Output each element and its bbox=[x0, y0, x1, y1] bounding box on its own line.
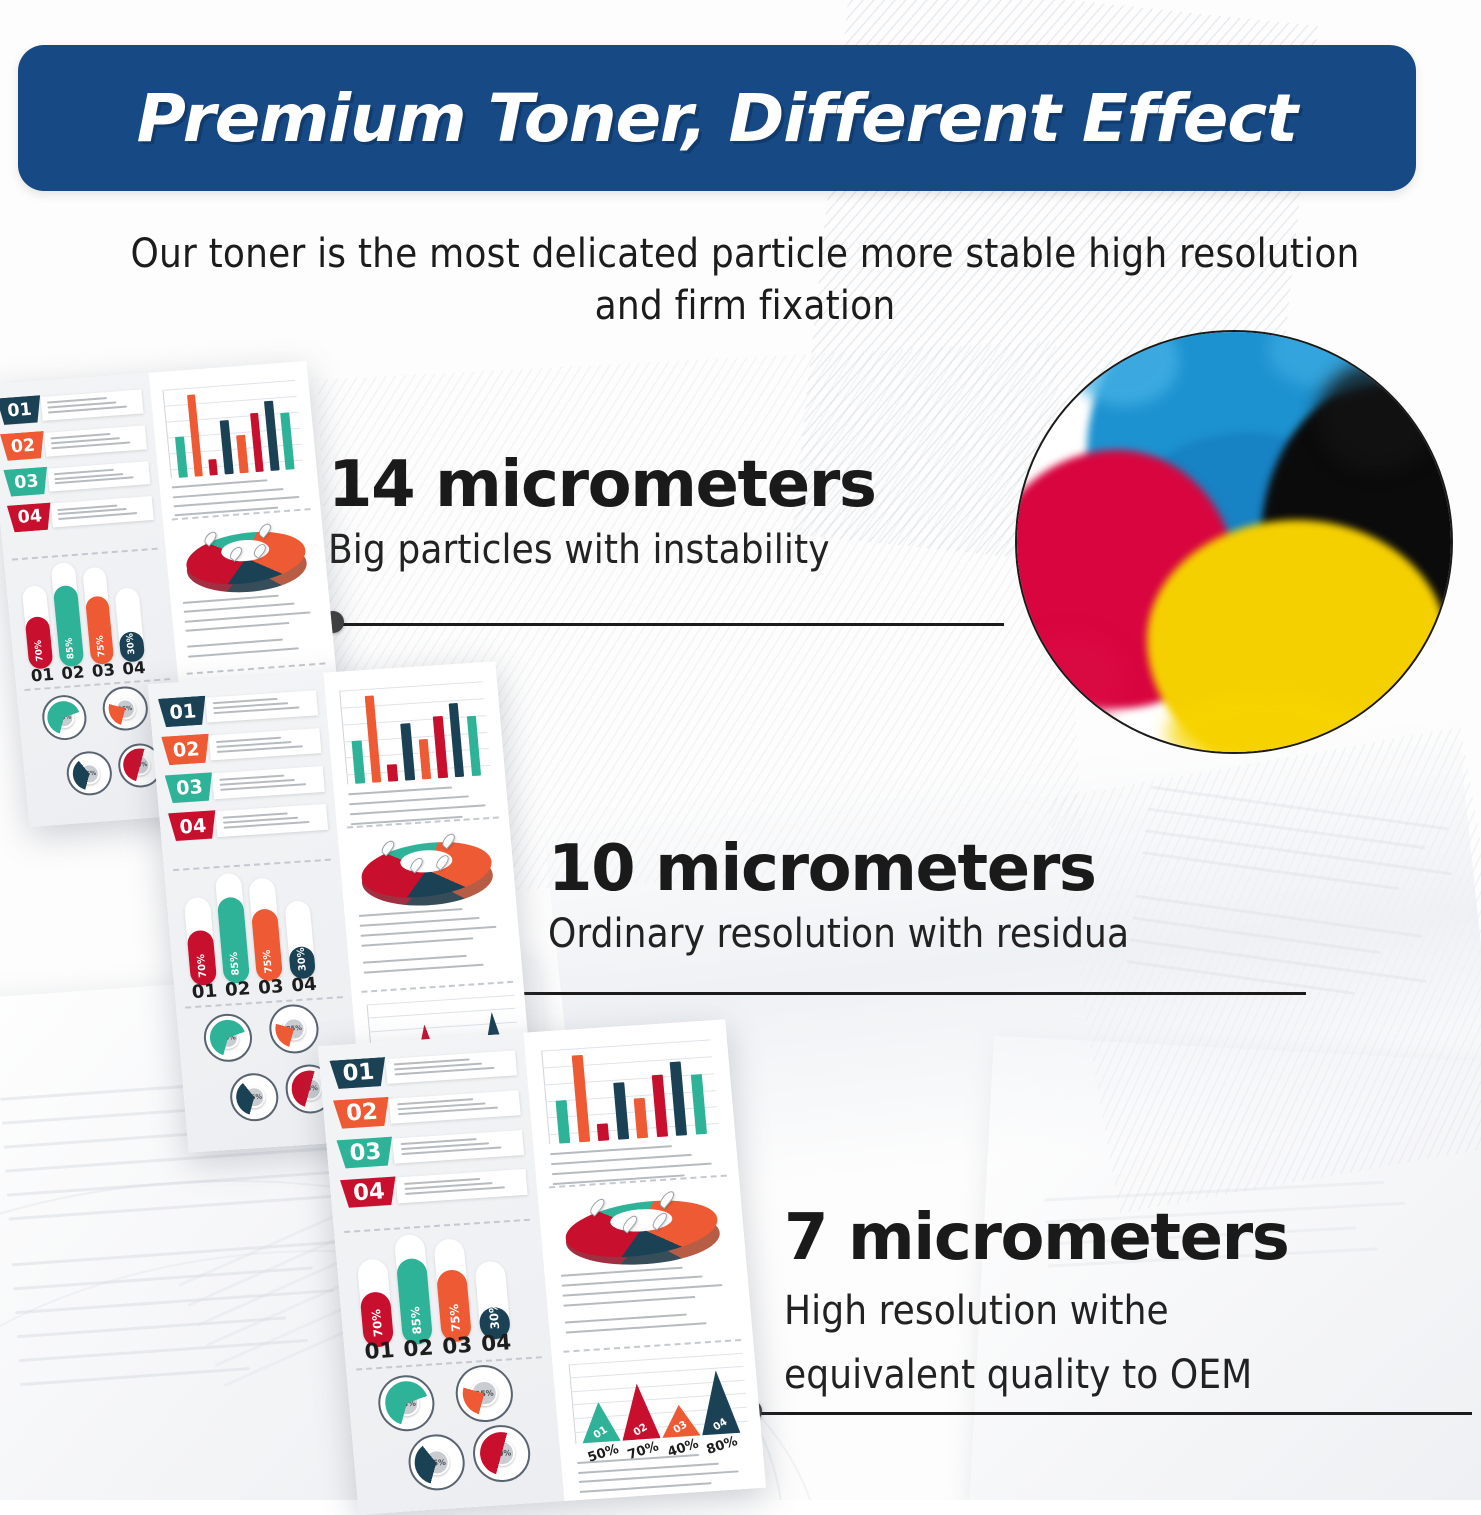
step-number-badge-02: 02 bbox=[333, 1097, 391, 1129]
bar-track-01: 70% bbox=[22, 585, 54, 669]
gauge-35%: 35% bbox=[406, 1432, 467, 1492]
step-number-badge-03: 03 bbox=[165, 772, 215, 804]
step-row: 04 bbox=[168, 803, 328, 842]
step-row: 02 bbox=[161, 726, 321, 765]
connector-line-14um bbox=[338, 623, 1004, 626]
sheet-left-column: 0102030470%0185%0275%0330%0465%25%35%50% bbox=[318, 1033, 565, 1515]
step-text-panel bbox=[44, 425, 148, 456]
mini-bar-3 bbox=[208, 459, 218, 476]
bar-category-label-01: 01 bbox=[30, 665, 55, 686]
step-row: 03 bbox=[165, 765, 325, 804]
filler-text-line bbox=[562, 1276, 703, 1287]
filler-text-line bbox=[188, 647, 299, 657]
filler-text-line bbox=[563, 1284, 723, 1297]
filler-text-line bbox=[550, 1145, 672, 1155]
filler-text-line bbox=[359, 917, 479, 927]
mini-bar-1 bbox=[352, 740, 365, 784]
filler-text-line bbox=[360, 926, 496, 937]
gauge-65%: 65% bbox=[201, 1012, 254, 1064]
bar-track-02: 85% bbox=[215, 872, 250, 983]
step-number-badge-02: 02 bbox=[0, 431, 46, 461]
bar-track-02: 85% bbox=[51, 562, 85, 667]
step-list: 01020304 bbox=[158, 688, 330, 858]
filler-text-line bbox=[552, 1162, 712, 1175]
step-text-panel bbox=[215, 804, 328, 837]
filler-text-line bbox=[362, 955, 466, 964]
step-text-panel bbox=[389, 1090, 521, 1124]
filler-text-line bbox=[361, 937, 473, 946]
gauge-ring-fill bbox=[274, 1009, 314, 1048]
divider-dashed-1 bbox=[12, 548, 157, 561]
step-number-badge-03: 03 bbox=[336, 1136, 394, 1168]
mini-column-chart bbox=[163, 380, 304, 478]
step-row: 04 bbox=[340, 1168, 528, 1209]
mini-bar-1 bbox=[175, 436, 188, 477]
chart-gridline bbox=[170, 459, 303, 470]
bar-track-04: 30% bbox=[284, 900, 316, 980]
mini-bar-7 bbox=[264, 401, 279, 471]
gauge-25%: 25% bbox=[101, 685, 150, 733]
page-title: Premium Toner, Different Effect bbox=[137, 80, 1297, 157]
chart-gridline bbox=[342, 715, 486, 726]
mini-bar-5 bbox=[418, 739, 431, 779]
chart-gridline bbox=[167, 427, 300, 438]
block-7-micrometers: 7 micrometers High resolution withe equi… bbox=[784, 1205, 1288, 1400]
bar-fill-01: 70% bbox=[25, 616, 53, 669]
gauge-35%: 35% bbox=[228, 1071, 281, 1123]
bar-value-label: 85% bbox=[65, 638, 77, 660]
filler-text-line bbox=[187, 639, 283, 648]
filler-text-line bbox=[349, 804, 485, 815]
bar-value-label: 70% bbox=[34, 640, 46, 662]
filler-text-line bbox=[358, 908, 462, 917]
divider-dashed-1 bbox=[344, 1218, 529, 1232]
bar-fill-02: 85% bbox=[396, 1258, 434, 1345]
bar-category-label-04: 04 bbox=[290, 974, 317, 997]
gauge-65%: 65% bbox=[40, 694, 89, 742]
connector-line-10um bbox=[500, 992, 1306, 995]
step-text-panel bbox=[385, 1050, 517, 1084]
gauge-ring-fill bbox=[383, 1380, 430, 1426]
chart-gridline bbox=[166, 411, 299, 422]
bar-fill-03: 75% bbox=[436, 1269, 472, 1343]
step-row: 03 bbox=[336, 1128, 524, 1169]
step-row: 01 bbox=[158, 688, 318, 727]
filler-text-line bbox=[580, 1482, 712, 1493]
rounded-bar-chart: 70%0185%0275%0330%04 bbox=[350, 1230, 537, 1363]
gauge-ring-fill bbox=[478, 1431, 525, 1477]
filler-text-line bbox=[564, 1296, 696, 1307]
triangle-chart-gridline bbox=[366, 994, 514, 1005]
bar-value-label: 85% bbox=[408, 1306, 424, 1335]
step-list: 01020304 bbox=[0, 388, 156, 549]
triangle-area-chart: 0150%0270%0340%0480% bbox=[569, 1353, 749, 1444]
bar-value-label: 85% bbox=[229, 951, 242, 975]
chart-y-axis bbox=[541, 1050, 550, 1144]
divider-dashed-1 bbox=[173, 858, 331, 870]
bar-track-02: 85% bbox=[393, 1234, 433, 1346]
step-row: 01 bbox=[0, 388, 144, 426]
bar-fill-02: 85% bbox=[217, 897, 250, 984]
block-14-micrometers: 14 micrometers Big particles with instab… bbox=[328, 452, 876, 575]
step-row: 03 bbox=[3, 459, 151, 497]
filler-text-line bbox=[363, 964, 483, 974]
bar-category-label-03: 03 bbox=[257, 976, 284, 999]
triangle-pct-80%: 80% bbox=[705, 1434, 740, 1458]
filler-text-line bbox=[349, 795, 469, 805]
mini-bar-7 bbox=[670, 1062, 687, 1136]
mini-bar-5 bbox=[237, 435, 249, 473]
bar-value-label: 75% bbox=[447, 1304, 463, 1333]
chart-gridline bbox=[343, 732, 487, 743]
bar-value-label: 30% bbox=[126, 633, 138, 655]
bar-value-label: 75% bbox=[262, 949, 275, 973]
bar-fill-01: 70% bbox=[186, 930, 216, 986]
headline-14um: 14 micrometers bbox=[328, 452, 876, 519]
bar-track-04: 30% bbox=[474, 1260, 511, 1340]
chart-y-axis bbox=[339, 691, 348, 785]
sheet-right-column: 0150%0270%0340%0480% bbox=[524, 1019, 767, 1501]
right-divider-2 bbox=[361, 980, 512, 992]
filler-text-line bbox=[183, 595, 279, 604]
chart-gridline bbox=[340, 698, 484, 709]
step-text-panel bbox=[396, 1169, 528, 1203]
gauge-ring-fill bbox=[46, 700, 82, 736]
chart-gridline bbox=[164, 396, 297, 407]
bar-fill-02: 85% bbox=[53, 585, 84, 667]
bar-value-label: 75% bbox=[95, 635, 107, 657]
filler-text-line bbox=[184, 603, 295, 613]
mini-bar-7 bbox=[449, 703, 465, 777]
step-number-badge-04: 04 bbox=[340, 1176, 398, 1208]
bar-category-label-03: 03 bbox=[441, 1333, 473, 1360]
bar-category-label-01: 01 bbox=[363, 1338, 395, 1365]
step-number-badge-01: 01 bbox=[0, 395, 43, 425]
connector-line-7um bbox=[756, 1412, 1472, 1415]
filler-text-line bbox=[565, 1314, 687, 1324]
filler-text-line bbox=[174, 496, 299, 507]
donut-3d-chart bbox=[183, 522, 309, 593]
bar-track-01: 70% bbox=[183, 897, 216, 986]
chart-gridline bbox=[549, 1123, 718, 1135]
filler-text-line bbox=[185, 611, 310, 622]
step-text-panel bbox=[51, 496, 155, 527]
step-number-badge-04: 04 bbox=[168, 810, 218, 842]
bar-track-01: 70% bbox=[356, 1258, 394, 1348]
triangle-chart-gridline bbox=[569, 1353, 742, 1366]
page-subtitle: Our toner is the most delicated particle… bbox=[110, 228, 1380, 332]
mini-column-chart bbox=[541, 1039, 718, 1144]
gauge-35%: 35% bbox=[65, 750, 114, 798]
filler-text-line bbox=[561, 1267, 683, 1277]
caption-10um: Ordinary resolution with residua bbox=[548, 909, 1129, 959]
chart-gridline bbox=[345, 748, 489, 759]
gauge-25%: 25% bbox=[454, 1363, 515, 1423]
right-divider-2 bbox=[187, 662, 326, 674]
infographic-sheet-7um: 0102030470%0185%0275%0330%0465%25%35%50%… bbox=[318, 1019, 766, 1514]
mini-bar-5 bbox=[634, 1098, 648, 1138]
gauge-ring-fill bbox=[107, 691, 143, 727]
step-number-badge-04: 04 bbox=[7, 502, 53, 532]
bar-track-04: 30% bbox=[114, 587, 145, 662]
bar-fill-03: 75% bbox=[251, 908, 283, 981]
bar-fill-03: 75% bbox=[85, 596, 115, 665]
filler-text-line bbox=[348, 787, 452, 796]
filler-text-line bbox=[172, 480, 268, 489]
step-number-badge-02: 02 bbox=[161, 734, 211, 766]
filler-text-line bbox=[551, 1154, 692, 1165]
bg-textlines-right bbox=[1111, 778, 1481, 1122]
powder-black-spray bbox=[1317, 362, 1437, 472]
filler-text-line bbox=[579, 1471, 739, 1484]
step-text-panel bbox=[40, 389, 144, 420]
gauge-ring-fill bbox=[461, 1370, 508, 1416]
mini-bar-1 bbox=[556, 1100, 571, 1144]
gauge-ring-fill bbox=[413, 1440, 460, 1486]
rounded-bar-chart: 70%0185%0275%0330%04 bbox=[177, 870, 338, 1002]
page-title-banner: Premium Toner, Different Effect bbox=[18, 45, 1416, 191]
bar-category-label-01: 01 bbox=[191, 980, 218, 1003]
bar-value-label: 70% bbox=[369, 1309, 385, 1338]
step-text-panel bbox=[209, 728, 322, 761]
gauge-65%: 65% bbox=[376, 1373, 437, 1433]
chart-y-axis bbox=[163, 390, 173, 478]
bar-track-03: 75% bbox=[82, 567, 115, 665]
gauge-25%: 25% bbox=[268, 1003, 321, 1055]
caption-7um-line2: equivalent quality to OEM bbox=[784, 1350, 1288, 1400]
filler-text-line bbox=[173, 488, 284, 498]
gauge-ring-fill bbox=[71, 756, 107, 792]
step-number-badge-01: 01 bbox=[158, 696, 208, 728]
caption-7um-line1: High resolution withe bbox=[784, 1286, 1288, 1336]
bar-category-label-04: 04 bbox=[480, 1330, 512, 1357]
chart-gridline bbox=[541, 1039, 710, 1051]
filler-text-line bbox=[566, 1322, 707, 1333]
bar-track-03: 75% bbox=[433, 1238, 472, 1342]
headline-10um: 10 micrometers bbox=[548, 836, 1129, 903]
bar-category-label-03: 03 bbox=[91, 660, 116, 681]
powder-magenta-spray bbox=[1015, 632, 1127, 722]
cmyk-toner-powder-photo bbox=[1015, 330, 1453, 754]
chart-gridline bbox=[339, 681, 483, 692]
chart-gridline bbox=[547, 1107, 716, 1119]
rounded-bar-chart: 70%0185%0275%0330%04 bbox=[16, 559, 166, 684]
bar-value-label: 30% bbox=[295, 947, 308, 971]
bar-category-label-04: 04 bbox=[121, 658, 146, 679]
bar-track-03: 75% bbox=[249, 878, 284, 982]
filler-text-line bbox=[578, 1462, 719, 1473]
bar-category-label-02: 02 bbox=[224, 978, 251, 1001]
chart-gridline bbox=[346, 765, 490, 776]
donut-3d-chart bbox=[359, 831, 495, 905]
chart-gridline bbox=[163, 380, 296, 391]
step-number-badge-03: 03 bbox=[3, 467, 49, 497]
gauge-ring-fill bbox=[234, 1078, 274, 1117]
bar-value-label: 70% bbox=[196, 954, 209, 978]
step-text-panel bbox=[392, 1130, 524, 1164]
chart-gridline bbox=[543, 1056, 712, 1068]
step-text-panel bbox=[212, 766, 325, 799]
mini-bar-3 bbox=[597, 1123, 609, 1141]
gauge-ring-fill bbox=[208, 1018, 248, 1057]
bar-category-label-02: 02 bbox=[60, 663, 85, 684]
step-number-badge-01: 01 bbox=[330, 1057, 388, 1089]
mini-bar-3 bbox=[387, 764, 398, 781]
step-row: 02 bbox=[0, 423, 148, 461]
filler-text-line bbox=[186, 622, 289, 632]
bar-value-label: 30% bbox=[486, 1301, 502, 1330]
step-row: 01 bbox=[330, 1048, 518, 1089]
right-divider-2 bbox=[564, 1339, 742, 1353]
mini-column-chart bbox=[339, 681, 492, 784]
gauge-50%: 50% bbox=[471, 1423, 532, 1483]
step-row: 02 bbox=[333, 1088, 521, 1129]
block-10-micrometers: 10 micrometers Ordinary resolution with … bbox=[548, 836, 1129, 959]
chart-gridline bbox=[169, 443, 302, 454]
step-text-panel bbox=[47, 461, 151, 492]
chart-gridline bbox=[546, 1090, 715, 1102]
step-text-panel bbox=[205, 690, 318, 723]
step-list: 01020304 bbox=[330, 1048, 529, 1219]
bar-category-label-02: 02 bbox=[402, 1335, 434, 1362]
caption-14um: Big particles with instability bbox=[328, 525, 876, 575]
step-row: 04 bbox=[7, 495, 155, 533]
headline-7um: 7 micrometers bbox=[784, 1205, 1288, 1272]
donut-3d-chart bbox=[562, 1190, 721, 1266]
chart-gridline bbox=[544, 1073, 713, 1085]
